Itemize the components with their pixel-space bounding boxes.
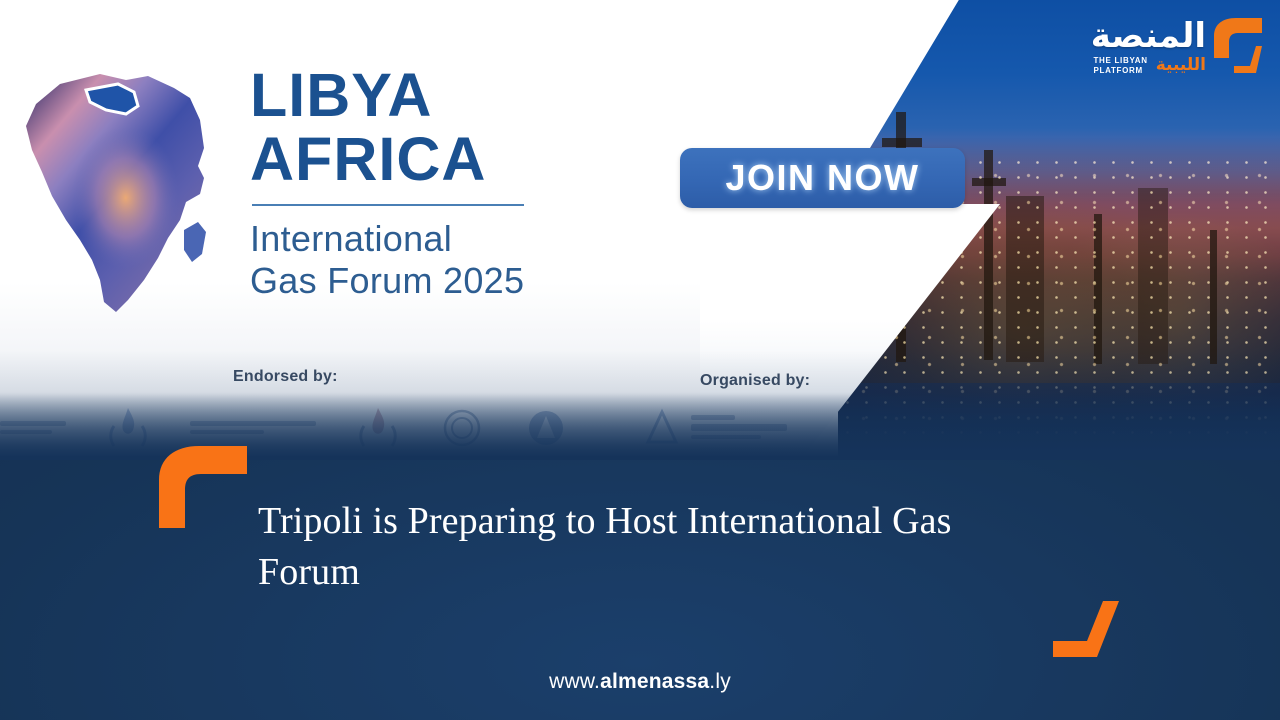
url-name: almenassa xyxy=(600,670,709,693)
sponsor-wordmark xyxy=(0,421,66,434)
brand-logo[interactable]: المنصة THE LIBYAN PLATFORM الليبية xyxy=(1034,8,1266,86)
quote-open-mark xyxy=(157,444,249,528)
url-prefix: www. xyxy=(549,670,600,693)
sponsor-logo xyxy=(190,421,316,434)
triangle-icon xyxy=(640,404,684,450)
brand-text-block: المنصة THE LIBYAN PLATFORM الليبية xyxy=(1091,19,1206,76)
url-tld: .ly xyxy=(709,670,731,693)
article-headline: Tripoli is Preparing to Host Internation… xyxy=(258,496,1048,599)
sponsor-logo xyxy=(356,404,400,450)
brand-mark-icon xyxy=(1212,16,1266,78)
logo-line-libya: LIBYA xyxy=(250,66,540,126)
organiser-logo xyxy=(640,404,787,450)
endorsed-by-label: Endorsed by: xyxy=(233,368,338,386)
africa-map-icon xyxy=(8,62,238,330)
logo-line-africa: AFRICA xyxy=(250,130,540,190)
forum-logo-wordmark: LIBYA AFRICA International Gas Forum 202… xyxy=(250,66,540,302)
brand-second-row: THE LIBYAN PLATFORM الليبية xyxy=(1093,56,1206,76)
join-now-button[interactable]: JOIN NOW xyxy=(680,148,965,208)
refinery-foreground xyxy=(838,383,1280,456)
brand-arabic-main: المنصة xyxy=(1091,19,1206,53)
sponsor-logo xyxy=(440,404,484,450)
quote-close-mark xyxy=(1053,601,1119,659)
organiser-wordmark xyxy=(691,415,787,439)
refinery-crossbeam xyxy=(882,138,922,147)
join-now-label: JOIN NOW xyxy=(725,157,919,199)
emblem-icon xyxy=(440,404,484,450)
brand-arabic-sub: الليبية xyxy=(1156,57,1206,74)
footer: www.almenassa.ly xyxy=(0,670,1280,694)
sponsor-wordmark xyxy=(190,421,316,434)
sponsor-logo xyxy=(0,421,66,434)
flame-icon xyxy=(356,404,400,450)
news-card: LIBYA AFRICA International Gas Forum 202… xyxy=(0,0,1280,720)
flame-icon xyxy=(106,404,150,450)
logo-divider xyxy=(252,204,524,206)
site-url: www.almenassa.ly xyxy=(0,670,1280,694)
brand-english-line1: THE LIBYAN xyxy=(1093,56,1147,66)
organiser-logo-strip xyxy=(640,396,787,456)
sponsor-logo xyxy=(106,404,150,450)
endorser-logo-strip xyxy=(0,396,568,456)
logo-subtitle-international: International xyxy=(250,218,540,260)
organised-by-label: Organised by: xyxy=(700,372,810,390)
sponsor-logo xyxy=(524,404,568,450)
brand-english-text: THE LIBYAN PLATFORM xyxy=(1093,56,1147,76)
emblem-icon xyxy=(524,404,568,450)
logo-subtitle-gas-forum: Gas Forum 2025 xyxy=(250,260,540,302)
brand-english-line2: PLATFORM xyxy=(1093,66,1147,76)
